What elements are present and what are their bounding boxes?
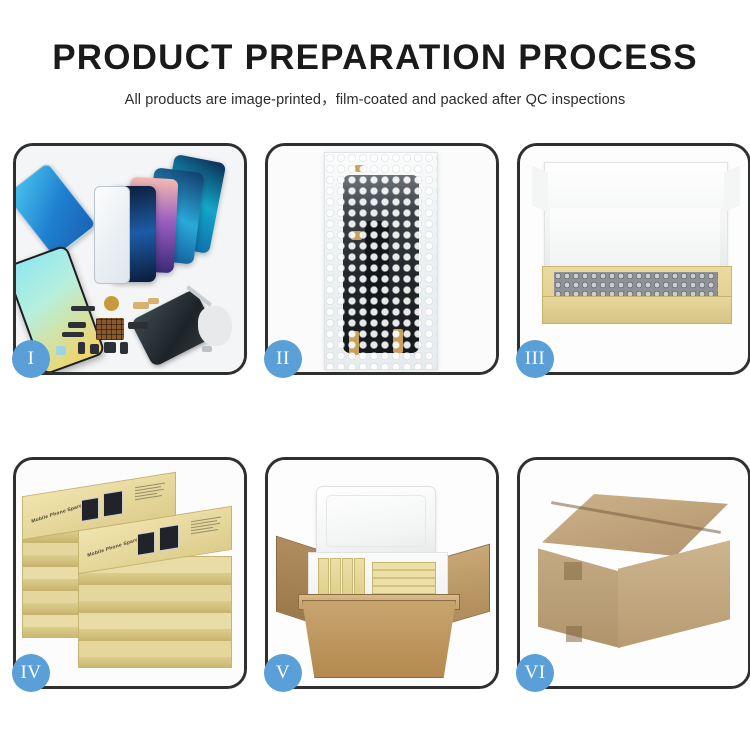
process-step-1: I (13, 143, 247, 375)
box-text-lines-right (191, 516, 223, 536)
box-art-phone-l1 (81, 497, 99, 522)
process-step-3: III (517, 143, 750, 375)
step-4-image: Mobile Phone Spare Parts Mobile Phone Sp… (16, 460, 244, 686)
box-art-phone-l2 (103, 490, 123, 517)
screw-part (202, 346, 212, 352)
page-title: PRODUCT PREPARATION PROCESS (0, 40, 750, 75)
carton-handle-tab-top (564, 562, 582, 580)
small-part-b (90, 344, 99, 354)
connector-part-b (62, 332, 84, 337)
sim-tray-part (56, 346, 66, 355)
connector-part-c (128, 322, 148, 329)
small-part-c (120, 342, 128, 354)
step-2-image (268, 146, 496, 372)
page-header: PRODUCT PREPARATION PROCESS All products… (0, 0, 750, 109)
process-step-4: Mobile Phone Spare Parts Mobile Phone Sp… (13, 457, 247, 689)
small-part-a (78, 342, 85, 354)
step-6-image (520, 460, 748, 686)
box-art-phone-r2 (159, 524, 179, 551)
process-step-5: V (265, 457, 499, 689)
stacked-box-r5 (78, 640, 232, 668)
process-step-grid: I II (13, 143, 737, 683)
bubble-texture (325, 153, 437, 369)
speaker-part (104, 342, 116, 353)
sealed-carton-front-face (618, 538, 730, 648)
step-5-image (268, 460, 496, 686)
step-badge-2: II (264, 340, 302, 378)
sealed-carton-top (542, 494, 728, 556)
step-badge-1: I (12, 340, 50, 378)
chip-array-part (96, 318, 124, 340)
battery-strip-part (71, 306, 95, 311)
blue-film-icon (16, 162, 97, 258)
process-step-2: II (265, 143, 499, 375)
carton-handle-tab-bottom (566, 626, 582, 642)
connector-part-a (68, 322, 86, 328)
flex-cable-part-b (148, 298, 159, 304)
bubble-bag (324, 152, 438, 370)
flex-cable-part-a (133, 302, 149, 309)
step-3-image (520, 146, 748, 372)
step-1-image (16, 146, 244, 372)
camera-ring-part (104, 296, 119, 311)
product-preparation-process-page: PRODUCT PREPARATION PROCESS All products… (0, 0, 750, 750)
step-badge-3: III (516, 340, 554, 378)
process-step-6: VI (517, 457, 750, 689)
foam-sheet (550, 208, 720, 274)
step-badge-4: IV (12, 654, 50, 692)
page-subtitle: All products are image-printed，film-coat… (0, 88, 750, 109)
stacked-box-r3 (78, 584, 232, 612)
hand-icon (198, 306, 232, 346)
box-art-phone-r1 (137, 531, 155, 556)
box-text-lines-left (135, 482, 167, 502)
step-badge-6: VI (516, 654, 554, 692)
stacked-box-r4 (78, 612, 232, 640)
screen-glass-icon (94, 186, 130, 284)
step-badge-5: V (264, 654, 302, 692)
foam-cooler-lid (316, 486, 436, 560)
yellow-box-front-wall (542, 296, 732, 324)
carton-body (302, 600, 456, 678)
